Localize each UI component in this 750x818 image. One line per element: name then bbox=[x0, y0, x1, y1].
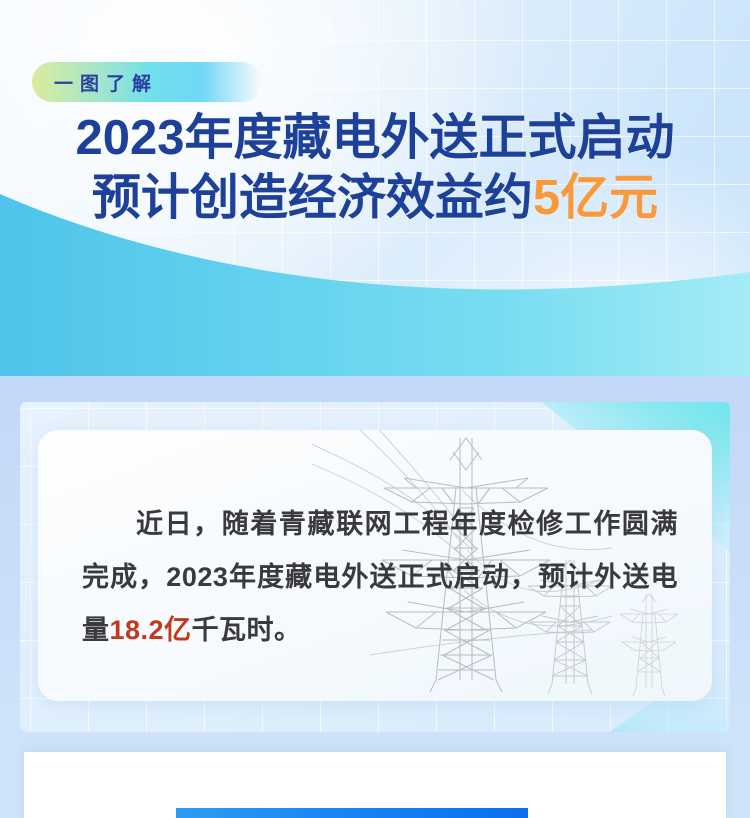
overline-badge: 一图了解 bbox=[32, 62, 262, 102]
article-paragraph-part-2: 千瓦时。 bbox=[192, 615, 302, 645]
hero-section: 一图了解 2023年度藏电外送正式启动 预计创造经济效益约5亿元 bbox=[0, 0, 750, 376]
page-title: 2023年度藏电外送正式启动 预计创造经济效益约5亿元 bbox=[0, 108, 750, 228]
page-title-line-2: 预计创造经济效益约5亿元 bbox=[0, 168, 750, 228]
article-paragraph: 近日，随着青藏联网工程年度检修工作圆满完成，2023年度藏电外送正式启动，预计外… bbox=[82, 498, 678, 657]
page-title-line-1: 2023年度藏电外送正式启动 bbox=[0, 108, 750, 168]
page-title-line-2-text: 预计创造经济效益约 bbox=[92, 171, 533, 225]
infographic-page: 一图了解 2023年度藏电外送正式启动 预计创造经济效益约5亿元 bbox=[0, 0, 750, 818]
article-card-inner: 近日，随着青藏联网工程年度检修工作圆满完成，2023年度藏电外送正式启动，预计外… bbox=[38, 430, 712, 701]
page-title-highlight: 5亿元 bbox=[533, 171, 658, 225]
article-paragraph-highlight: 18.2亿 bbox=[110, 615, 192, 645]
footer-accent-bar bbox=[176, 808, 528, 818]
overline-badge-label: 一图了解 bbox=[54, 69, 158, 96]
